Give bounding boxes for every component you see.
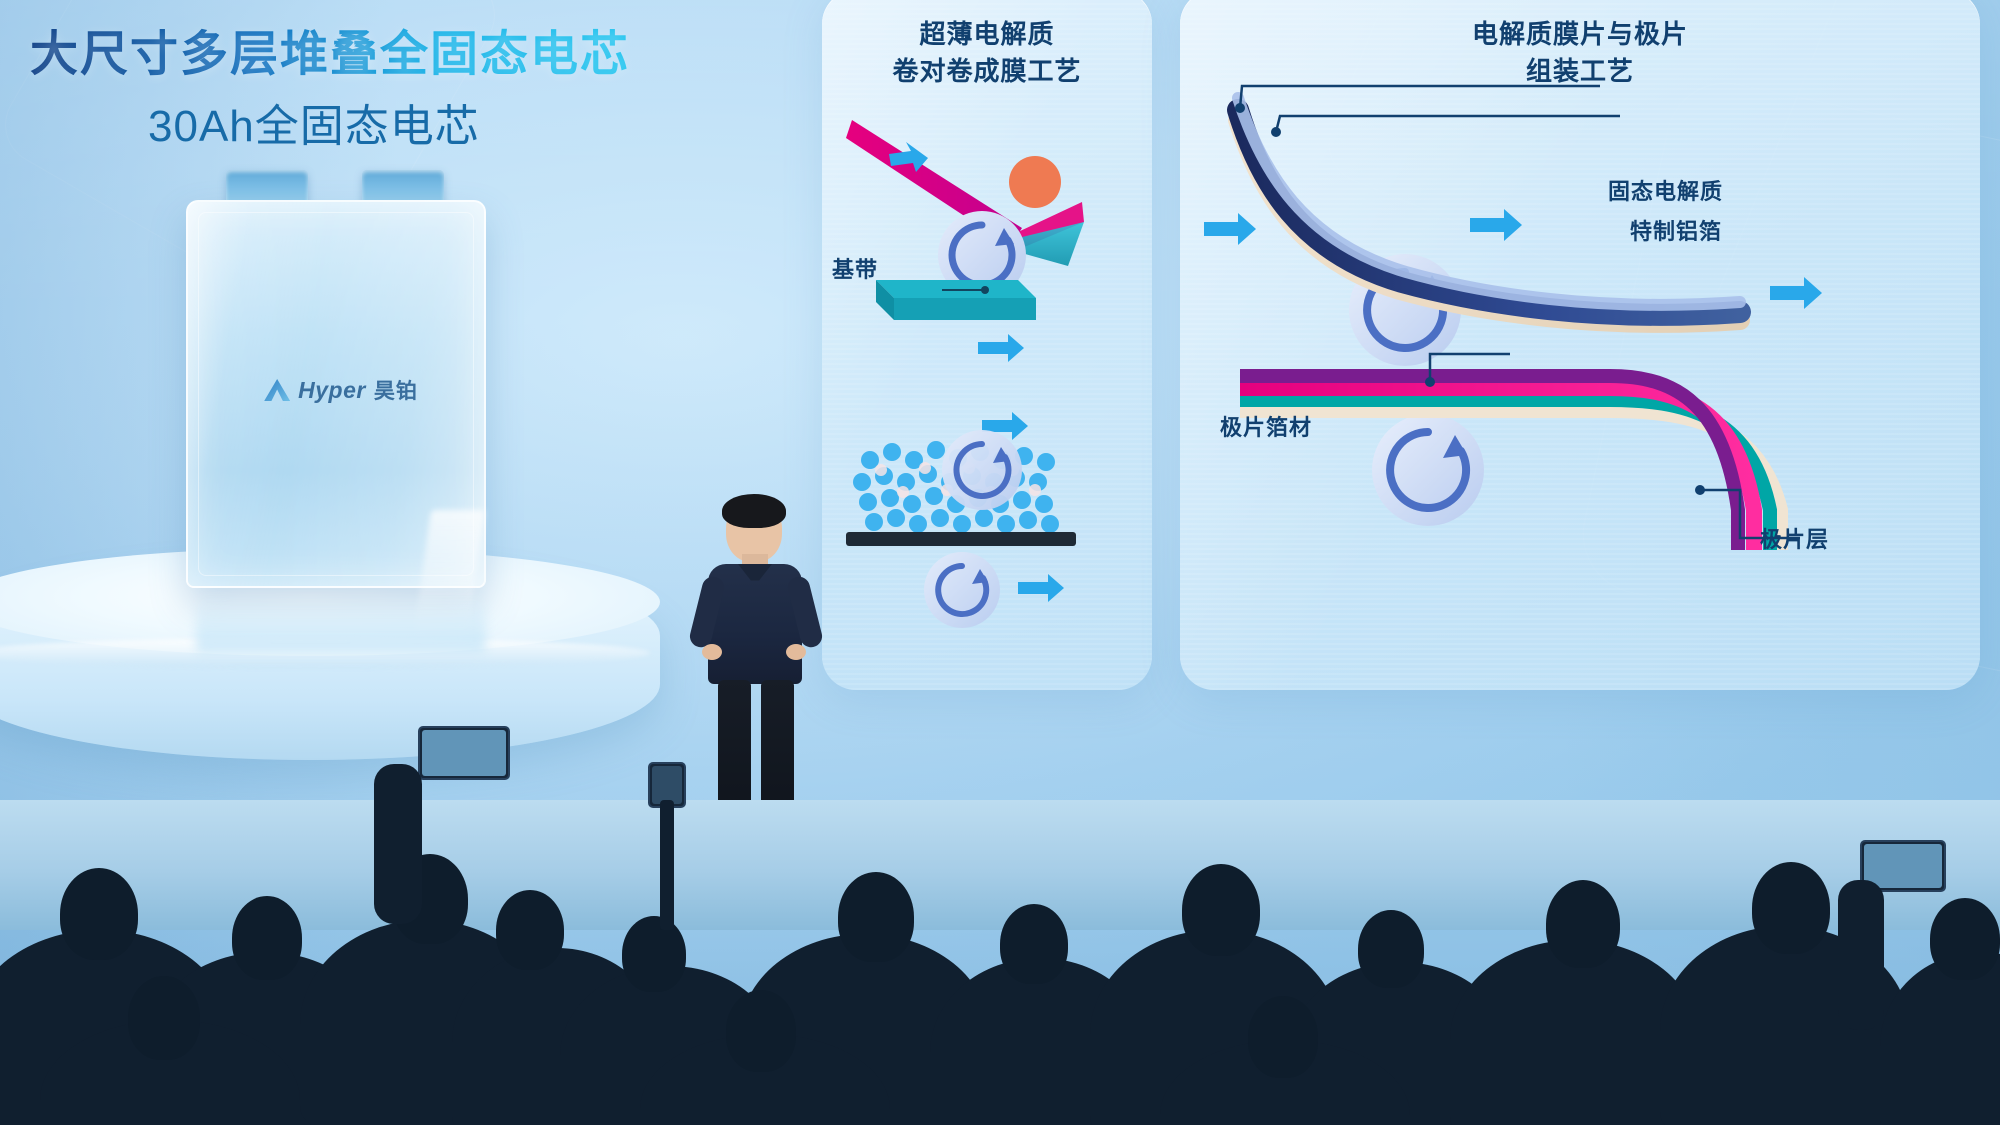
audience-head [496, 890, 564, 970]
leader-dot-special-foil [1271, 127, 1281, 137]
audience-head [1000, 904, 1068, 984]
audience-head [1930, 898, 2000, 980]
audience-head [1546, 880, 1620, 968]
page-subtitle: 30Ah全固态电芯 [148, 90, 480, 154]
arrow-right-3-icon [1018, 574, 1064, 602]
audience-head [232, 896, 302, 980]
audience-head [1358, 910, 1424, 988]
audience-head [1182, 864, 1260, 956]
arrow-feed-1-icon [1204, 213, 1256, 245]
audience-head [1248, 996, 1318, 1078]
label-special-aluminum-foil: 特制铝箔 [1630, 214, 1722, 246]
panel-2-title-line1: 超薄电解质 [822, 16, 1152, 53]
label-substrate: 基带 [832, 252, 878, 284]
panel-2-diagram [822, 0, 1152, 690]
audience-camera-stand [660, 800, 674, 930]
audience-head [1752, 862, 1830, 954]
battery-cell-display: Hyper 昊铂 [186, 170, 496, 590]
panel-3-title-line2: 组装工艺 [1180, 53, 1980, 90]
hyper-logo-icon [264, 379, 290, 401]
presenter-hair [722, 494, 786, 528]
cell-brand-logo: Hyper 昊铂 [264, 375, 418, 405]
page-title: 大尺寸多层堆叠全固态电芯 [30, 14, 630, 84]
audience-head [128, 976, 200, 1060]
panel-2-title: 超薄电解质 卷对卷成膜工艺 [822, 16, 1152, 90]
panel-3-diagram [1180, 0, 1980, 690]
audience-raised-arm [374, 764, 422, 924]
audience-head [622, 916, 686, 992]
phone-screen [1864, 844, 1942, 888]
leader-special-foil [1276, 116, 1620, 132]
brand-wordmark: Hyper [298, 377, 366, 404]
presenter-hand-left [702, 644, 722, 660]
panel-2-title-line2: 卷对卷成膜工艺 [822, 53, 1152, 90]
panel-3-title: 电解质膜片与极片 组装工艺 [1180, 16, 1980, 90]
phone-screen [422, 730, 506, 776]
panel-ultra-thin-electrolyte: 超薄电解质 卷对卷成膜工艺 [822, 0, 1152, 690]
camera-lens [652, 766, 682, 804]
leader-dot-electrode-layer [1695, 485, 1705, 495]
substrate-leader-dot [981, 286, 989, 294]
leader-dot-electrode-foil [1425, 377, 1435, 387]
arrow-feed-2-icon [1470, 209, 1522, 241]
cell-reflection [196, 592, 486, 652]
panel-3-title-line1: 电解质膜片与极片 [1180, 16, 1980, 53]
label-solid-electrolyte: 固态电解质 [1608, 174, 1723, 206]
panel-membrane-electrode-assembly: 电解质膜片与极片 组装工艺 [1180, 0, 1980, 690]
audience [0, 690, 2000, 1125]
audience-head [726, 990, 796, 1072]
coating-head-icon [1009, 156, 1061, 208]
audience-head [838, 872, 914, 962]
leader-dot-solid-electrolyte [1235, 103, 1245, 113]
substrate-front [894, 298, 1036, 320]
electrode-backing-strip [1240, 410, 1780, 550]
arrow-right-1-icon [978, 334, 1024, 362]
solid-electrolyte-strip [1238, 110, 1740, 315]
audience-phone [418, 726, 510, 780]
arrow-output-icon [1770, 277, 1822, 309]
conveyor-belt [846, 532, 1076, 546]
presenter-hand-right [786, 644, 806, 660]
audience-member [1880, 952, 2000, 1125]
brand-name-cn: 昊铂 [374, 375, 418, 405]
audience-head [60, 868, 138, 960]
audience-raised-arm [1838, 880, 1884, 1030]
label-electrode-foil: 极片箔材 [1220, 410, 1312, 442]
label-electrode-layer: 极片层 [1760, 522, 1829, 554]
